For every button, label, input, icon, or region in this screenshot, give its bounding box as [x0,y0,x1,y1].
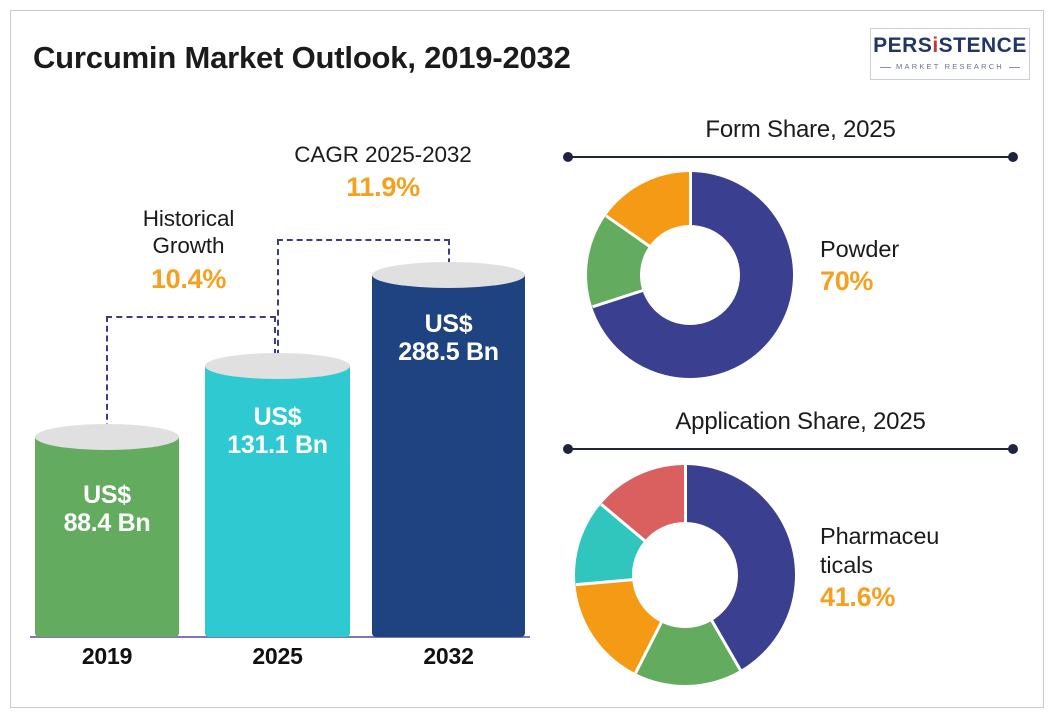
annotation-historical-growth-value: 10.4% [96,264,281,295]
bar-2019-value-currency: US$ [35,481,179,509]
application-share-legend: Pharmaceu ticals 41.6% [820,522,1030,613]
application-share-donut-ring [575,465,795,685]
application-share-legend-value: 41.6% [820,582,1030,613]
infographic-canvas: Curcumin Market Outlook, 2019-2032 PERSi… [0,0,1056,720]
bar-chart: Historical Growth 10.4% CAGR 2025-2032 1… [0,0,545,720]
application-share-donut[interactable] [575,465,795,685]
bar-2019-body [35,437,179,637]
bar-2032-cap [372,262,525,288]
application-share-title: Application Share, 2025 [545,408,1056,436]
bar-2025-value: US$ 131.1 Bn [205,403,350,459]
connector-historical-top [106,316,276,318]
form-share-rule-dot-left [563,152,573,162]
form-share-rule-dot-right [1008,152,1018,162]
application-share-rule-dot-left [563,444,573,454]
bar-2032-value-amount: 288.5 Bn [372,338,525,366]
form-share-legend-value: 70% [820,266,1020,297]
application-share-donut-hole [632,522,738,628]
form-share-legend: Powder 70% [820,235,1020,297]
bar-2019-value: US$ 88.4 Bn [35,481,179,537]
application-share-legend-label: Pharmaceu ticals [820,522,1030,580]
annotation-cagr-label: CAGR 2025-2032 [258,141,508,168]
bar-2032-value: US$ 288.5 Bn [372,310,525,366]
application-share-legend-label-line1: Pharmaceu [820,522,1030,551]
application-share-rule [563,444,1018,454]
form-share-legend-label: Powder [820,235,1020,264]
form-share-rule-line [568,156,1013,158]
application-share-rule-line [568,448,1013,450]
application-share-legend-label-line2: ticals [820,551,1030,580]
bar-2032-value-currency: US$ [372,310,525,338]
bar-2019-cap [35,424,179,450]
bar-2019[interactable]: US$ 88.4 Bn [35,424,179,637]
form-share-rule [563,152,1018,162]
donut-panels: Form Share, 2025 Powder 70% Application … [545,0,1056,720]
connector-cagr-left [277,239,279,366]
bar-2019-value-amount: 88.4 Bn [35,509,179,537]
bar-2025[interactable]: US$ 131.1 Bn [205,353,350,637]
form-share-donut-hole [640,225,740,325]
form-share-title: Form Share, 2025 [545,116,1056,144]
bar-2032[interactable]: US$ 288.5 Bn [372,262,525,637]
bar-2019-label: 2019 [35,643,179,670]
form-share-donut-ring [587,172,793,378]
annotation-cagr: CAGR 2025-2032 11.9% [258,141,508,203]
bar-2032-label: 2032 [372,643,525,670]
application-share-rule-dot-right [1008,444,1018,454]
annotation-historical-growth-label: Historical Growth [96,205,281,260]
annotation-cagr-value: 11.9% [258,172,508,203]
bar-2025-value-amount: 131.1 Bn [205,431,350,459]
form-share-donut[interactable] [587,172,793,378]
connector-cagr-top [277,239,450,241]
bar-2025-value-currency: US$ [205,403,350,431]
bar-2025-label: 2025 [205,643,350,670]
bar-2025-cap [205,353,350,379]
annotation-historical-growth: Historical Growth 10.4% [96,205,281,295]
